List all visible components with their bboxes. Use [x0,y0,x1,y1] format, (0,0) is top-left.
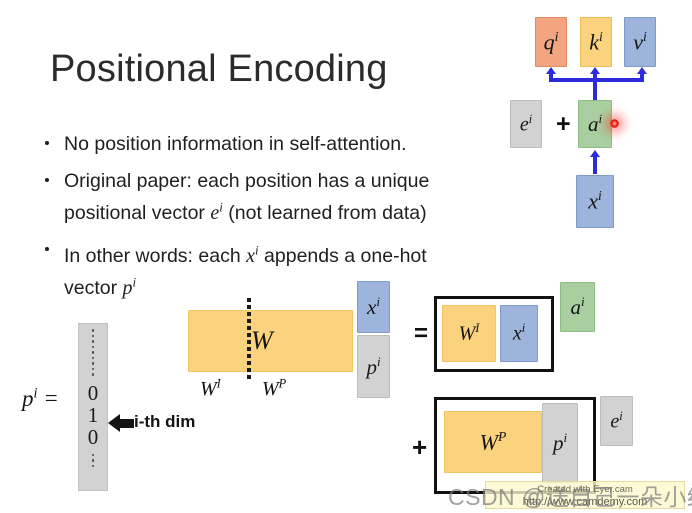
x-label: xi [588,188,602,214]
arrow-stem-to-key [593,73,597,82]
bullet-dot-icon [45,141,49,145]
input-x-box-top: xi [576,175,614,228]
a-label: ai [588,111,602,137]
bullet-text: Original paper: each position has a uniq… [64,170,429,224]
plus-sign-bottom: + [412,434,427,460]
slide-canvas: Positional Encoding No position informat… [0,0,692,513]
embedding-a-box: ai [578,100,612,148]
equals-sign: = [414,322,428,346]
w-i-sublabel: WI [200,377,221,399]
bullet-dot-icon [45,178,49,182]
arrow-x-to-a [593,156,597,174]
result-x-label: xi [513,321,525,346]
vertical-dots-bottom-icon [92,454,95,468]
query-box: qi [535,17,567,67]
pvec-var: pi [22,386,37,411]
result-wp-box: WP [444,411,542,473]
pvec-value-0: 0 [88,382,99,404]
arrowhead-query-icon [546,67,556,74]
result-e-box: ei [600,396,633,446]
page-title: Positional Encoding [50,48,388,91]
bullet-text: No position information in self-attentio… [64,133,407,155]
result-wi-label: WI [459,321,480,346]
key-label: ki [589,29,603,55]
bullet-dot-icon [45,247,49,251]
bullet-no-position-info: No position information in self-attentio… [40,132,460,157]
ith-dim-label: i-th dim [134,412,195,432]
result-a-label: ai [570,294,584,320]
result-p-label: pi [553,430,567,456]
arrow-stem-to-value [640,73,644,82]
stack-x-box: xi [357,281,390,333]
arrowhead-key-icon [590,67,600,74]
arrow-stem-to-query [549,73,553,82]
value-label: vi [633,29,647,55]
ith-dim-arrow-icon [108,414,134,432]
pvec-equals: = [43,386,59,411]
bullet-list: No position information in self-attentio… [40,132,460,313]
result-e-label: ei [610,409,622,434]
result-wp-label: WP [480,429,507,455]
bullet-one-hot: In other words: each xi appends a one-ho… [40,238,460,301]
w-p-sublabel: WP [262,377,286,399]
csdn-watermark: CSDN @送自己一朵小红花 [448,478,692,512]
plus-sign-top: + [556,112,571,137]
result-p-box: pi [542,403,578,483]
w-matrix-dotted-divider [247,298,251,380]
laser-pointer-dot-icon [610,119,619,128]
w-matrix-box: W [188,310,353,372]
result-wi-box: WI [442,305,496,362]
arrowhead-value-icon [637,67,647,74]
arrowhead-a-icon [590,150,600,157]
bullet-original-paper: Original paper: each position has a uniq… [40,169,460,226]
stack-x-label: xi [367,294,380,320]
result-x-box: xi [500,305,538,362]
value-box: vi [624,17,656,67]
e-label: ei [520,112,532,137]
w-matrix-label: W [251,326,273,356]
query-label: qi [544,29,559,55]
result-a-box: ai [560,282,595,332]
pvec-value-2: 0 [88,426,99,448]
one-hot-vector-column: 0 1 0 [78,323,108,491]
stack-p-box: pi [357,335,390,398]
stack-p-label: pi [366,354,380,380]
positional-vector-e-box: ei [510,100,542,148]
key-box: ki [580,17,612,67]
pvec-value-1: 1 [88,404,99,426]
pvec-equation-label: pi = [22,385,59,412]
vertical-dots-top-icon [92,329,95,376]
